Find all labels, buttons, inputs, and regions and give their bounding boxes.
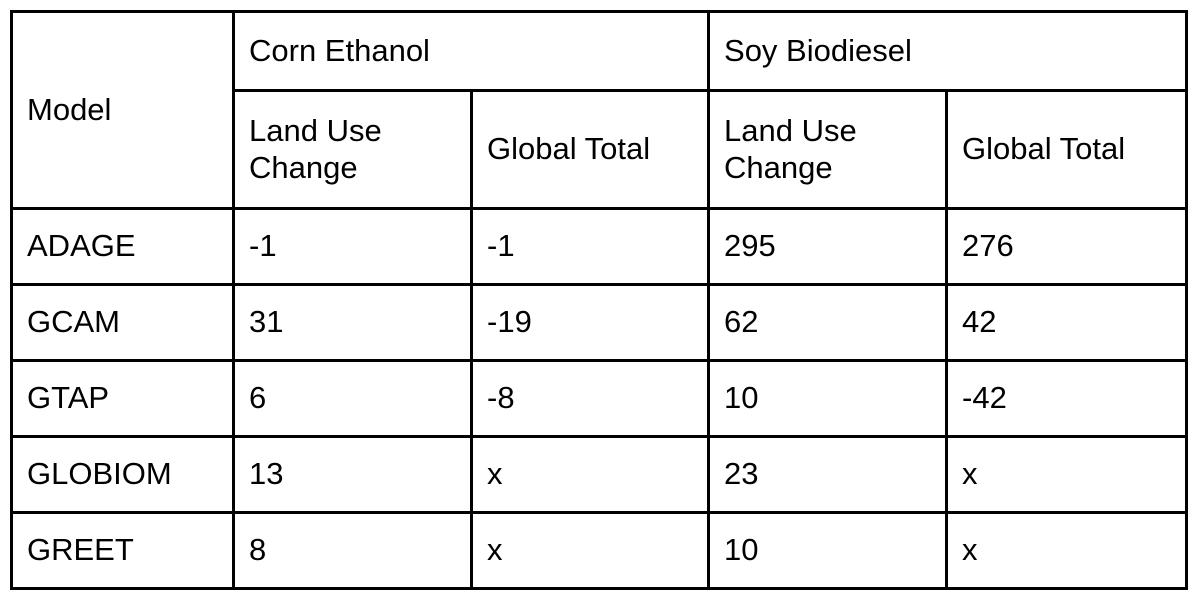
subheader-line-2: Change xyxy=(724,150,945,187)
table-container: Model Corn Ethanol Soy Biodiesel Land Us… xyxy=(10,10,1186,590)
cell-corn-global-total: -19 xyxy=(472,285,709,361)
table-header: Model Corn Ethanol Soy Biodiesel Land Us… xyxy=(12,12,1187,209)
table-body: ADAGE -1 -1 295 276 GCAM 31 -19 62 42 GT… xyxy=(12,209,1187,589)
cell-corn-land-use-change: 31 xyxy=(234,285,472,361)
cell-model: GREET xyxy=(12,513,234,589)
column-header-corn-global-total: Global Total xyxy=(472,91,709,209)
table-row: GREET 8 x 10 x xyxy=(12,513,1187,589)
cell-soy-land-use-change: 62 xyxy=(709,285,947,361)
cell-corn-land-use-change: 6 xyxy=(234,361,472,437)
cell-model: ADAGE xyxy=(12,209,234,285)
cell-soy-global-total: -42 xyxy=(947,361,1187,437)
cell-corn-global-total: x xyxy=(472,437,709,513)
subheader-line-1: Land Use xyxy=(249,113,470,150)
table-row: GLOBIOM 13 x 23 x xyxy=(12,437,1187,513)
cell-soy-land-use-change: 10 xyxy=(709,361,947,437)
column-header-model: Model xyxy=(12,12,234,209)
cell-model: GLOBIOM xyxy=(12,437,234,513)
cell-corn-land-use-change: 13 xyxy=(234,437,472,513)
header-row-groups: Model Corn Ethanol Soy Biodiesel xyxy=(12,12,1187,91)
table-row: GTAP 6 -8 10 -42 xyxy=(12,361,1187,437)
cell-soy-global-total: x xyxy=(947,513,1187,589)
cell-soy-land-use-change: 23 xyxy=(709,437,947,513)
group-header-corn-ethanol: Corn Ethanol xyxy=(234,12,709,91)
subheader-line-1: Global Total xyxy=(487,131,707,168)
cell-soy-global-total: 42 xyxy=(947,285,1187,361)
subheader-line-1: Global Total xyxy=(962,131,1185,168)
cell-soy-global-total: 276 xyxy=(947,209,1187,285)
subheader-line-1: Land Use xyxy=(724,113,945,150)
model-comparison-table: Model Corn Ethanol Soy Biodiesel Land Us… xyxy=(10,10,1188,590)
column-header-soy-land-use-change: Land Use Change xyxy=(709,91,947,209)
cell-soy-global-total: x xyxy=(947,437,1187,513)
table-canvas: Model Corn Ethanol Soy Biodiesel Land Us… xyxy=(0,0,1200,598)
group-header-soy-biodiesel: Soy Biodiesel xyxy=(709,12,1187,91)
cell-soy-land-use-change: 295 xyxy=(709,209,947,285)
cell-corn-land-use-change: 8 xyxy=(234,513,472,589)
subheader-line-2: Change xyxy=(249,150,470,187)
column-header-soy-global-total: Global Total xyxy=(947,91,1187,209)
cell-model: GCAM xyxy=(12,285,234,361)
table-row: ADAGE -1 -1 295 276 xyxy=(12,209,1187,285)
cell-corn-global-total: -8 xyxy=(472,361,709,437)
cell-corn-land-use-change: -1 xyxy=(234,209,472,285)
cell-model: GTAP xyxy=(12,361,234,437)
cell-soy-land-use-change: 10 xyxy=(709,513,947,589)
column-header-corn-land-use-change: Land Use Change xyxy=(234,91,472,209)
table-row: GCAM 31 -19 62 42 xyxy=(12,285,1187,361)
cell-corn-global-total: x xyxy=(472,513,709,589)
cell-corn-global-total: -1 xyxy=(472,209,709,285)
